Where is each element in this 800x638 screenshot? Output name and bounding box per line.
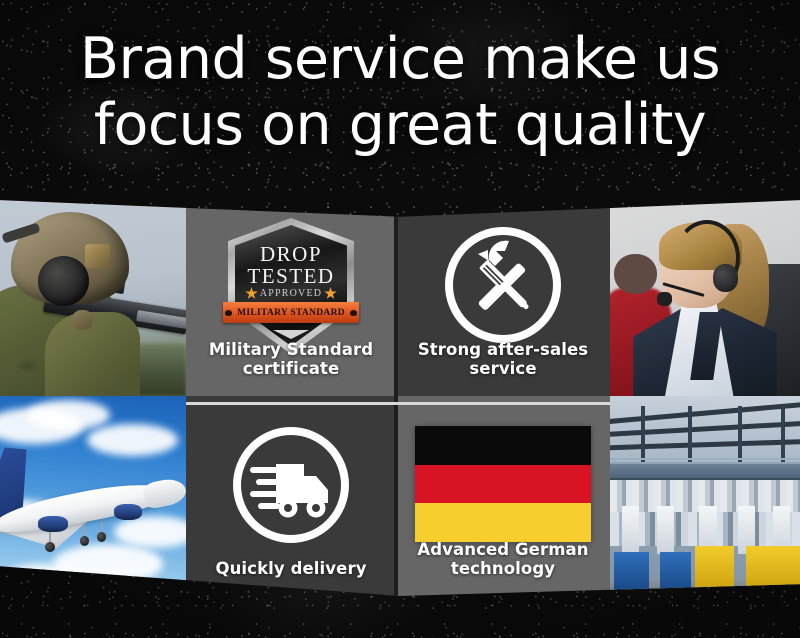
airplane-engine: [114, 504, 143, 520]
photo-cell-airplane: [0, 396, 186, 596]
feature-label-german-technology: Advanced German technology: [396, 540, 610, 578]
ribbon-dot-right-icon: [350, 310, 357, 316]
banner-root: Brand service make us focus on great qua…: [0, 0, 800, 638]
headset-earpad: [713, 264, 738, 292]
mezzanine-rail: [610, 458, 800, 460]
soldier-arm: [45, 312, 140, 396]
badge-ribbon: MILITARY STANDARD: [223, 302, 359, 323]
photo-cell-call-center: [610, 196, 800, 396]
airplane-engine: [38, 516, 68, 532]
cloud: [87, 424, 178, 456]
german-flag-icon: [415, 426, 591, 542]
feature-label-after-sales: Strong after-sales service: [396, 340, 610, 378]
badge-line-tested: TESTED: [228, 264, 354, 289]
photo-cell-factory: [610, 396, 800, 596]
panel-divider-vertical: [394, 196, 398, 596]
badge-line-approved: APPROVED: [228, 288, 354, 299]
flag-stripe-red: [415, 465, 591, 504]
feature-cell-quick-delivery: Quickly delivery: [186, 396, 396, 596]
feature-label-quick-delivery: Quickly delivery: [186, 559, 396, 578]
feature-cell-after-sales: Strong after-sales service: [396, 196, 610, 396]
mezzanine-deck: [610, 462, 800, 480]
flag-stripe-black: [415, 426, 591, 465]
badge-ribbon-label: MILITARY STANDARD: [237, 308, 345, 318]
badge-ribbon-text-wrap: MILITARY STANDARD: [223, 302, 359, 323]
background-colleague-head: [614, 254, 657, 294]
feature-cell-german-technology: Advanced German technology: [396, 396, 610, 596]
feature-grid: DROP TESTED APPROVED MILITARY STANDARD: [0, 196, 800, 596]
headset-mic-tip: [657, 292, 673, 306]
call-center-photo: [610, 196, 800, 396]
airplane-photo: [0, 396, 186, 596]
landing-gear-wheel: [45, 542, 55, 552]
feature-grid-band: DROP TESTED APPROVED MILITARY STANDARD: [0, 196, 800, 596]
panel-divider-horizontal: [186, 402, 610, 405]
soldier-hand: [72, 310, 93, 330]
landing-gear-wheel: [97, 532, 107, 542]
fast-delivery-truck-circle-icon: [228, 422, 354, 548]
soldier-earcup: [38, 256, 89, 306]
machine-cabinet: [622, 506, 639, 554]
soldier-photo: [0, 196, 186, 396]
machine-cabinet: [657, 506, 674, 554]
feature-label-military-standard: Military Standard certificate: [186, 340, 396, 378]
wrench-screwdriver-circle-icon: [440, 222, 566, 348]
flag-stripe-gold: [415, 503, 591, 542]
cloud: [26, 400, 110, 430]
soldier-nvg-mount: [85, 244, 110, 268]
banner-headline: Brand service make us focus on great qua…: [0, 26, 800, 158]
factory-photo: [610, 396, 800, 596]
feature-cell-military-standard: DROP TESTED APPROVED MILITARY STANDARD: [186, 196, 396, 396]
drop-tested-shield-badge: DROP TESTED APPROVED MILITARY STANDARD: [228, 218, 354, 354]
landing-gear-wheel: [80, 536, 90, 546]
ribbon-dot-left-icon: [225, 310, 232, 316]
photo-cell-soldier: [0, 196, 186, 396]
